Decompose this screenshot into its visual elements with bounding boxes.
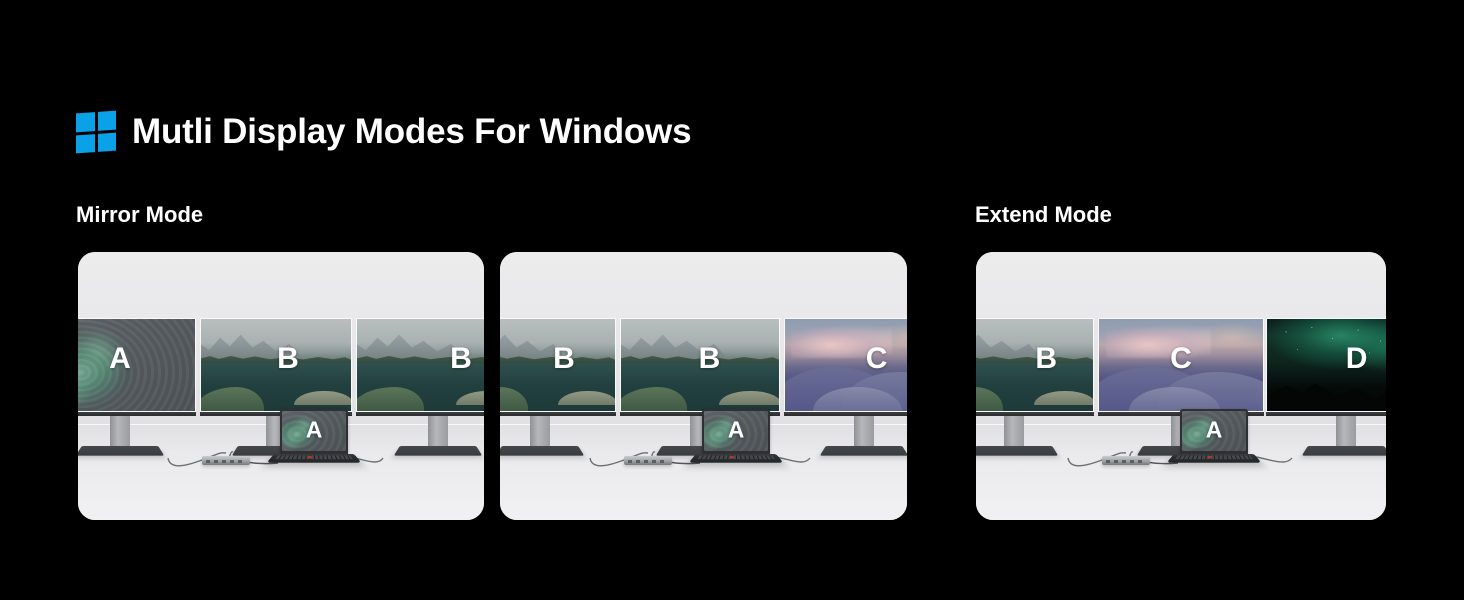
laptop-3-label: A: [1206, 419, 1223, 442]
windows-logo-icon: [76, 111, 116, 154]
laptop-3-screen: A: [1182, 411, 1246, 451]
laptop-3-keyboard[interactable]: [1167, 454, 1262, 463]
laptop-2-screen: A: [704, 411, 768, 451]
mirror-panel-1: A B: [78, 252, 484, 520]
page-title: Mutli Display Modes For Windows: [132, 112, 691, 152]
laptop-1-lid: A: [280, 409, 348, 454]
docking-station-1[interactable]: [202, 456, 250, 465]
section-label-extend: Extend Mode: [975, 202, 1112, 228]
laptop-3-lid: A: [1180, 409, 1248, 454]
laptop-1-screen: A: [282, 411, 346, 451]
laptop-2-label: A: [728, 419, 745, 442]
laptop-2-keyboard[interactable]: [689, 454, 784, 463]
laptop-2-lid: A: [702, 409, 770, 454]
mirror-panel-2: B B: [500, 252, 907, 520]
section-label-mirror: Mirror Mode: [76, 202, 203, 228]
promo-banner: Mutli Display Modes For Windows Mirror M…: [0, 0, 1464, 600]
laptop-1-label: A: [306, 419, 323, 442]
docking-station-3[interactable]: [1102, 456, 1150, 465]
laptop-1-keyboard[interactable]: [267, 454, 362, 463]
docking-station-2[interactable]: [624, 456, 672, 465]
extend-panel-1: B C: [976, 252, 1386, 520]
page-header: Mutli Display Modes For Windows: [76, 112, 691, 152]
